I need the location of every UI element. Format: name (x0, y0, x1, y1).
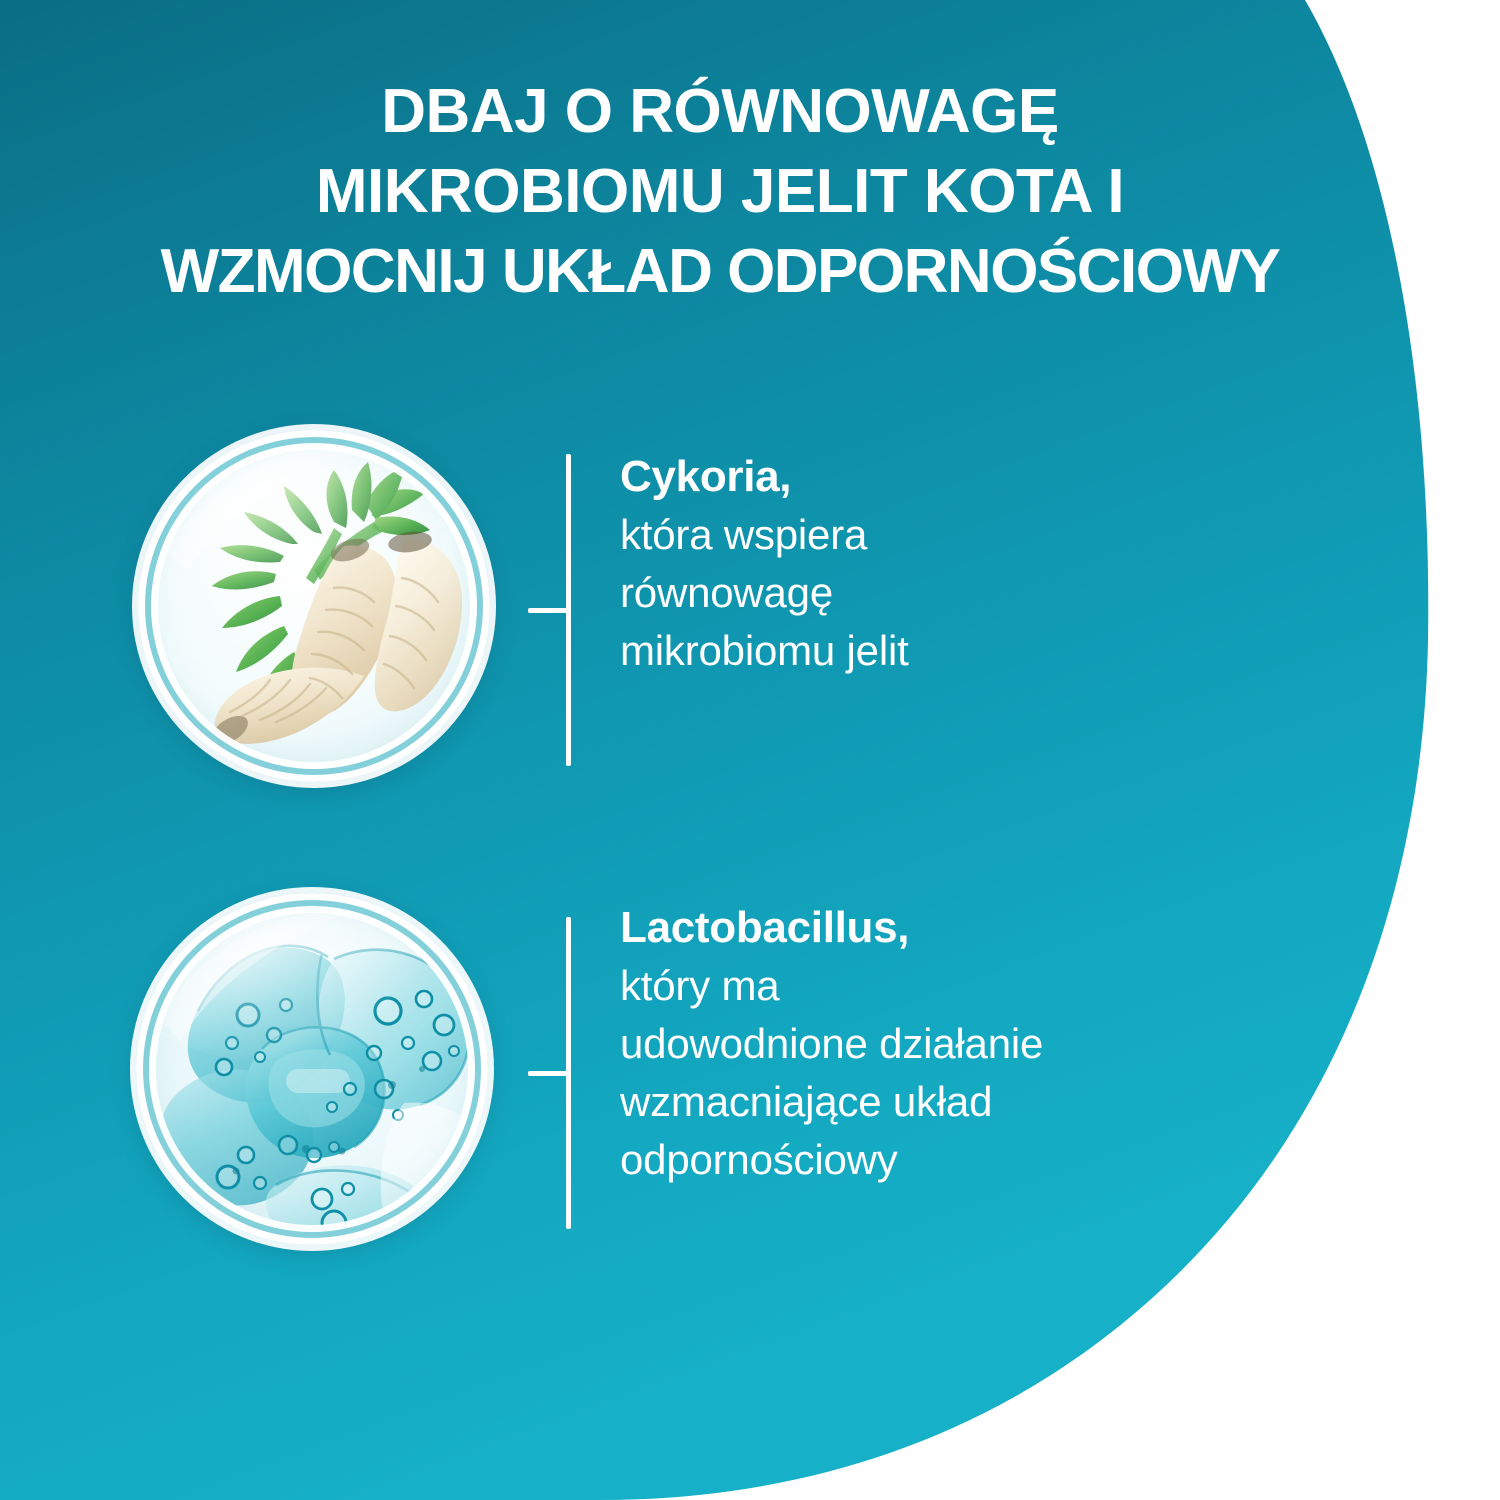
headline-line-2: MIKROBIOMU JELIT KOTA I (0, 152, 1440, 232)
lactobacillus-desc-line-4: odpornościowy (620, 1131, 1320, 1189)
headline-line-1: DBAJ O RÓWNOWAGĘ (0, 72, 1440, 152)
feature-item-chicory: Cykoria, która wspiera równowagę mikrobi… (0, 430, 1300, 790)
page-title: DBAJ O RÓWNOWAGĘ MIKROBIOMU JELIT KOTA I… (0, 72, 1440, 312)
chicory-term: Cykoria, (620, 448, 1280, 506)
lactobacillus-term: Lactobacillus, (620, 899, 1320, 957)
promo-banner: DBAJ O RÓWNOWAGĘ MIKROBIOMU JELIT KOTA I… (0, 0, 1500, 1500)
lactobacillus-desc-line-1: który ma (620, 957, 1320, 1015)
probiotic-gel-petri-dish-image (136, 893, 488, 1245)
chicory-desc-line-2: równowagę (620, 564, 1280, 622)
chicory-copy: Cykoria, która wspiera równowagę mikrobi… (620, 448, 1280, 680)
headline-line-3: WZMOCNIJ UKŁAD ODPORNOŚCIOWY (0, 232, 1440, 312)
feature-item-lactobacillus: Lactobacillus, który ma udowodnione dzia… (0, 893, 1300, 1253)
chicory-root-petri-dish-image (138, 430, 490, 782)
chicory-description: która wspiera równowagę mikrobiomu jelit (620, 506, 1280, 680)
lactobacillus-desc-line-2: udowodnione działanie (620, 1015, 1320, 1073)
lactobacillus-description: który ma udowodnione działanie wzmacniaj… (620, 957, 1320, 1189)
chicory-desc-line-1: która wspiera (620, 506, 1280, 564)
lactobacillus-copy: Lactobacillus, który ma udowodnione dzia… (620, 899, 1320, 1189)
lactobacillus-desc-line-3: wzmacniające układ (620, 1073, 1320, 1131)
probiotic-gel-illustration (136, 893, 488, 1245)
chicory-illustration (138, 430, 490, 782)
connector-tick (528, 608, 570, 613)
connector-tick (528, 1071, 570, 1076)
chicory-desc-line-3: mikrobiomu jelit (620, 622, 1280, 680)
